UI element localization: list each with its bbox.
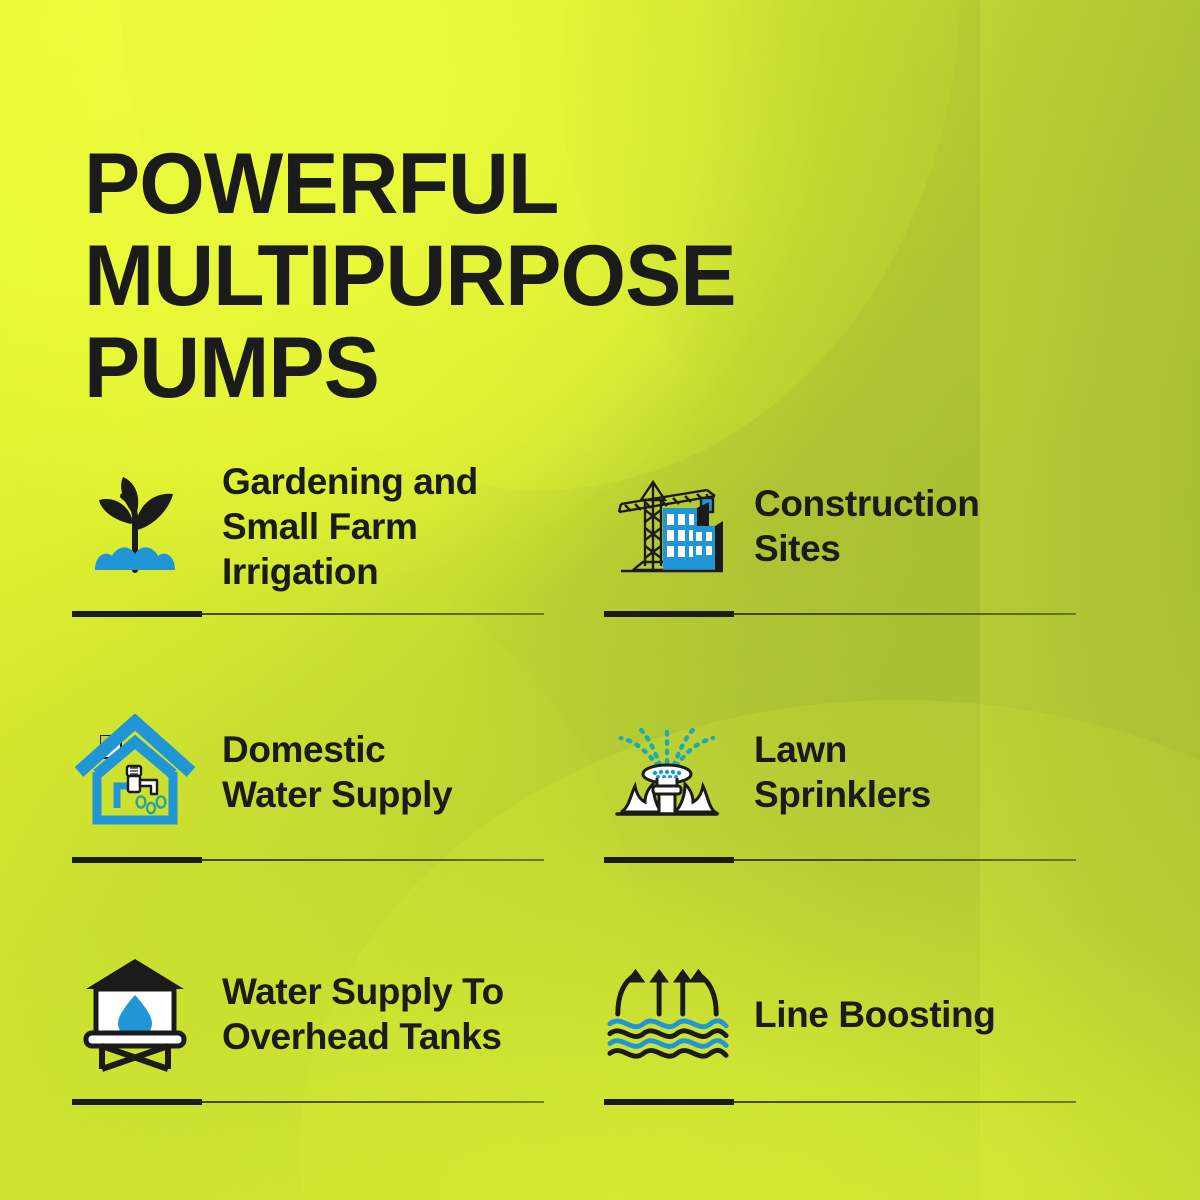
divider-thick-segment	[72, 857, 202, 863]
feature-item-line-boosting: Line Boosting	[604, 940, 1144, 1108]
feature-label: Water Supply To Overhead Tanks	[222, 969, 504, 1059]
page-title: POWERFUL MULTIPURPOSE PUMPS	[84, 138, 966, 414]
divider-thick-segment	[604, 857, 734, 863]
feature-label: Lawn Sprinklers	[754, 727, 931, 817]
divider-thin-segment	[732, 859, 1076, 861]
divider-thick-segment	[604, 611, 734, 617]
feature-item-gardening-irrigation: Gardening and Small Farm Irrigation	[72, 452, 612, 620]
feature-row: Domestic Water Supply	[0, 698, 1200, 866]
feature-row: Gardening and Small Farm Irrigation	[0, 452, 1200, 620]
divider-thin-segment	[200, 859, 544, 861]
feature-item-lawn-sprinklers: Lawn Sprinklers	[604, 698, 1144, 866]
divider-thin-segment	[200, 613, 544, 615]
feature-divider	[604, 1096, 1076, 1108]
construction-crane-icon	[604, 466, 730, 586]
feature-label: Gardening and Small Farm Irrigation	[222, 459, 478, 594]
lawn-sprinkler-icon	[604, 712, 730, 832]
feature-row: Water Supply To Overhead Tanks	[0, 940, 1200, 1108]
feature-label: Construction Sites	[754, 481, 979, 571]
feature-divider	[72, 854, 544, 866]
divider-thick-segment	[72, 1099, 202, 1105]
feature-item-domestic-water-supply: Domestic Water Supply	[72, 698, 612, 866]
water-tower-icon	[72, 954, 198, 1074]
feature-divider	[604, 854, 1076, 866]
divider-thick-segment	[72, 611, 202, 617]
feature-item-overhead-tanks: Water Supply To Overhead Tanks	[72, 940, 612, 1108]
feature-divider	[604, 608, 1076, 620]
feature-divider	[72, 1096, 544, 1108]
feature-label: Line Boosting	[754, 992, 995, 1037]
plant-sprout-icon	[72, 466, 198, 586]
feature-label: Domestic Water Supply	[222, 727, 452, 817]
divider-thick-segment	[604, 1099, 734, 1105]
feature-item-construction-sites: Construction Sites	[604, 452, 1144, 620]
divider-thin-segment	[200, 1101, 544, 1103]
house-faucet-icon	[72, 712, 198, 832]
poster-canvas: POWERFUL MULTIPURPOSE PUMPS Gardenin	[0, 0, 1200, 1200]
divider-thin-segment	[732, 613, 1076, 615]
divider-thin-segment	[732, 1101, 1076, 1103]
pressure-waves-icon	[604, 954, 730, 1074]
feature-divider	[72, 608, 544, 620]
feature-grid: Gardening and Small Farm Irrigation	[0, 452, 1200, 1108]
